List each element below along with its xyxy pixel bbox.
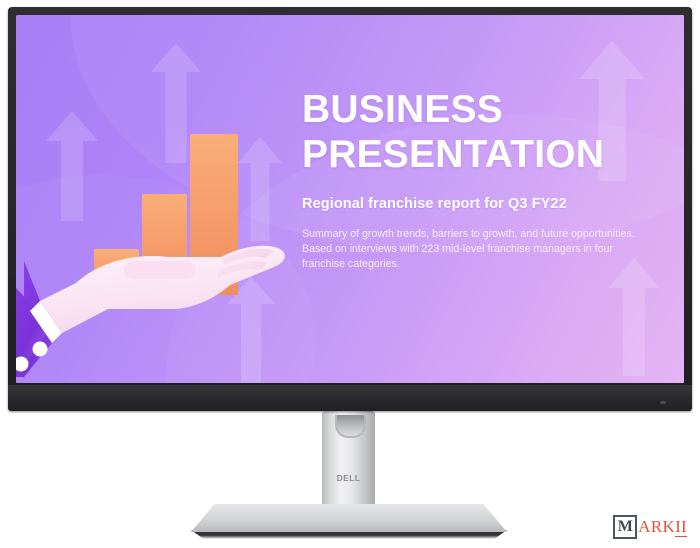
up-arrow-icon — [608, 258, 660, 376]
page-title: BUSINESS PRESENTATION — [302, 87, 662, 177]
monitor-panel: BUSINESS PRESENTATION Regional franchise… — [8, 7, 692, 411]
slide-title-line-1: BUSINESS — [302, 88, 503, 131]
presentation-slide: BUSINESS PRESENTATION Regional franchise… — [16, 15, 684, 383]
slide-subtitle: Regional franchise report for Q3 FY22 — [302, 196, 662, 212]
hand-graphic — [16, 15, 316, 383]
monitor-stand-base — [191, 504, 507, 538]
monitor-stand-neck: DELL — [322, 411, 375, 510]
stand-base-plate — [191, 504, 507, 532]
markii-watermark-logo: M ARKII — [613, 515, 687, 539]
slide-title-line-2: PRESENTATION — [302, 133, 604, 176]
slide-text-block: BUSINESS PRESENTATION Regional franchise… — [302, 87, 662, 271]
hand-holding-bar-chart-illustration — [16, 15, 316, 383]
dell-monitor: DELL — [0, 0, 700, 548]
watermark-boxed-letter: M — [613, 515, 637, 539]
sleeve-button — [33, 342, 48, 357]
slide-body-text: Summary of growth trends, barriers to gr… — [302, 227, 648, 271]
watermark-word-text: ARK — [638, 517, 675, 536]
dell-logo-text: DELL — [322, 473, 375, 483]
watermark-suffix: II — [675, 517, 687, 537]
monitor-screen-area: BUSINESS PRESENTATION Regional franchise… — [16, 15, 684, 383]
watermark-word: ARKII — [638, 517, 687, 537]
monitor-bottom-bezel — [8, 385, 692, 411]
cable-management-hole — [335, 415, 366, 438]
power-led-indicator[interactable] — [660, 401, 666, 404]
